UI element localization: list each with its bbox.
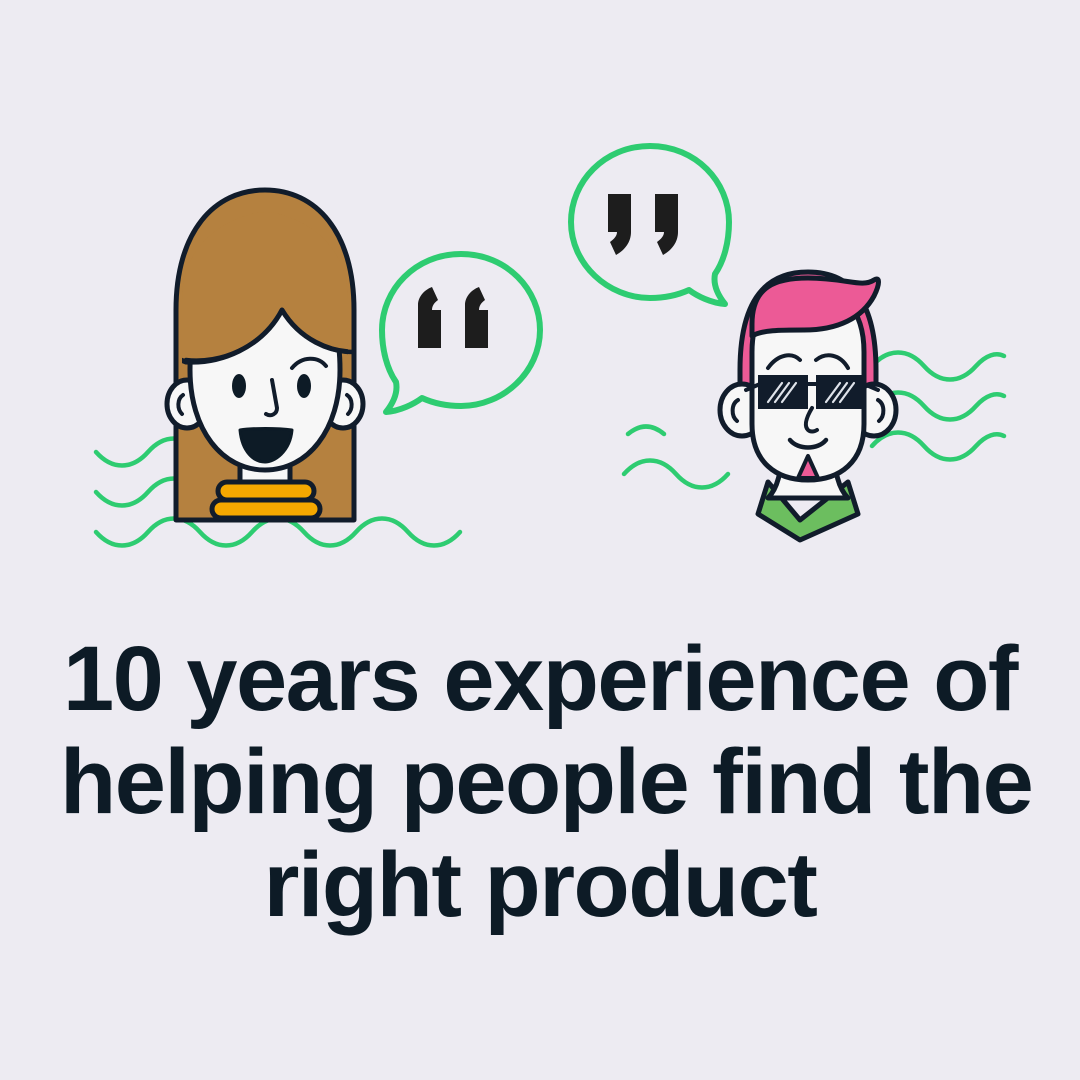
- female-eye-left: [232, 374, 246, 398]
- bubble-left-quote-marks: [418, 287, 488, 348]
- headline-line-2: helping people find the: [60, 731, 1020, 834]
- illustration-artwork: [0, 0, 1080, 620]
- poster-canvas: 10 years experience of helping people fi…: [0, 0, 1080, 1080]
- bubble-left-shape: [382, 254, 540, 412]
- bubble-right-shape: [571, 146, 729, 304]
- character-female-swimmer: [167, 190, 363, 520]
- wave-left-3: [96, 519, 460, 546]
- character-male-swimmer: [720, 272, 896, 540]
- speech-bubble-right: [571, 146, 729, 304]
- page-headline: 10 years experience of helping people fi…: [60, 628, 1020, 937]
- wave-right-4: [628, 427, 664, 435]
- bubble-right-quote-marks: [608, 194, 678, 255]
- female-necklace-bottom: [212, 500, 320, 518]
- wave-right-5: [624, 461, 728, 488]
- headline-line-1: 10 years experience of: [60, 628, 1020, 731]
- female-eye-right: [297, 374, 311, 398]
- wave-right-1: [872, 353, 1004, 380]
- wave-right-3: [872, 433, 1004, 460]
- headline-line-3: right product: [60, 834, 1020, 937]
- female-necklace-top: [218, 482, 314, 500]
- speech-bubble-left: [382, 254, 540, 412]
